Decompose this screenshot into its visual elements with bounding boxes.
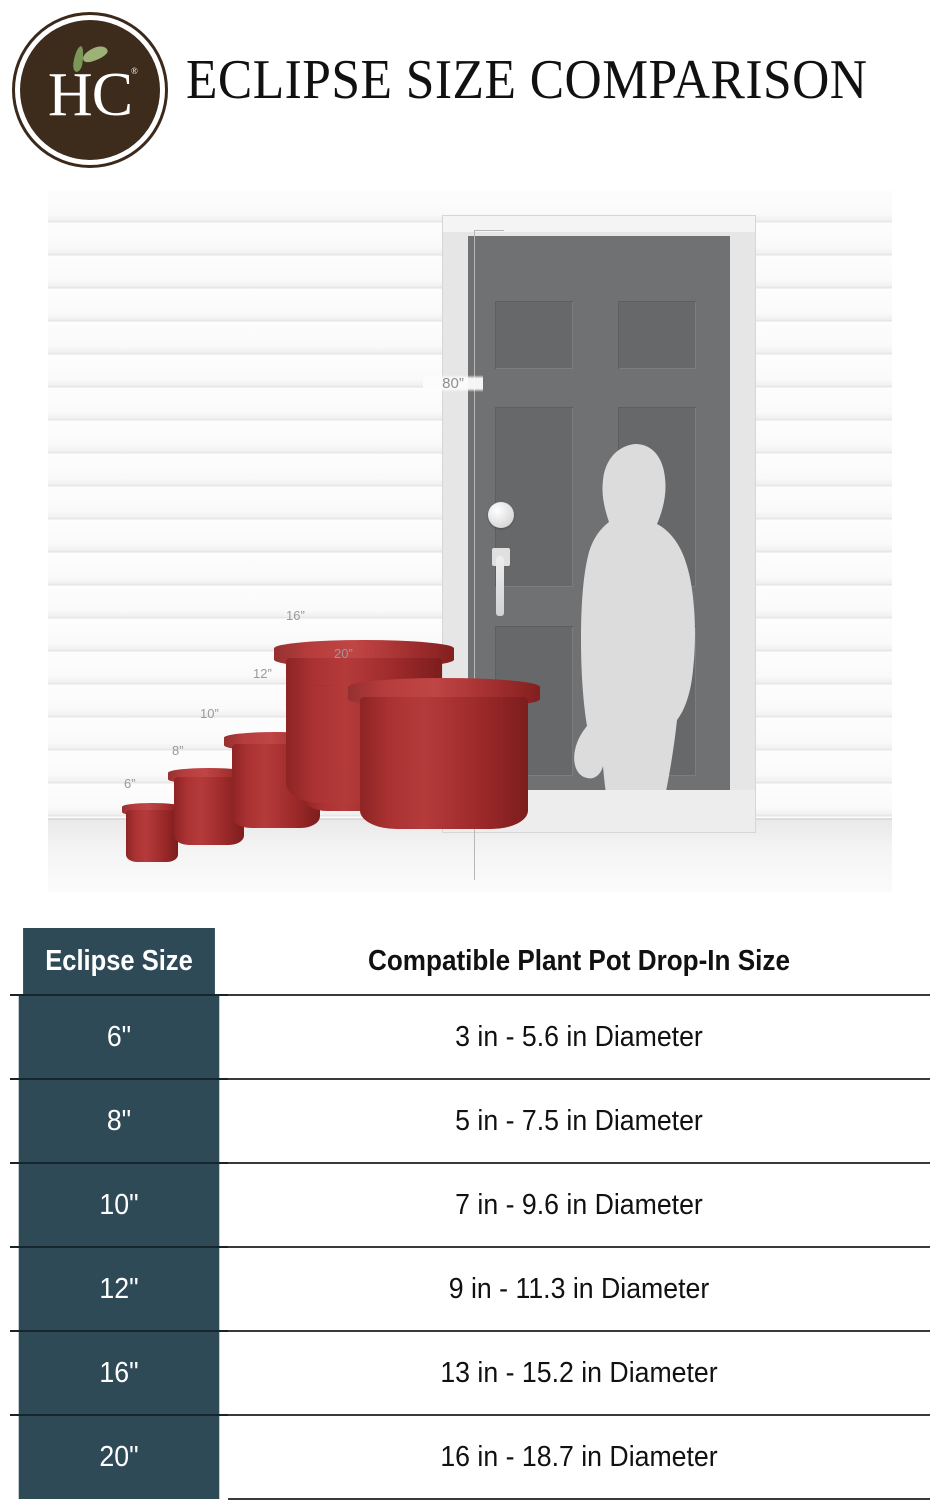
logo-monogram: HC bbox=[12, 12, 168, 168]
table-row: 12" 9 in - 11.3 in Diameter bbox=[10, 1247, 930, 1331]
table-row: 10" 7 in - 9.6 in Diameter bbox=[10, 1163, 930, 1247]
person-silhouette bbox=[573, 440, 713, 840]
cell-eclipse-size: 20" bbox=[19, 1415, 220, 1499]
door-handle-lever bbox=[496, 556, 504, 616]
size-comparison-photo: 80” 6” 8” 10” 12” 16” 20” bbox=[48, 190, 892, 892]
cell-drop-in-size: 9 in - 11.3 in Diameter bbox=[256, 1247, 902, 1331]
doorknob-icon bbox=[488, 502, 514, 528]
pot-label-6in: 6” bbox=[124, 776, 136, 791]
pot-label-16in: 16” bbox=[286, 608, 305, 623]
registered-trademark-icon: ® bbox=[131, 66, 138, 76]
table-row: 6" 3 in - 5.6 in Diameter bbox=[10, 995, 930, 1079]
eclipse-size-table: Eclipse Size Compatible Plant Pot Drop-I… bbox=[10, 928, 930, 1500]
pot-label-8in: 8” bbox=[172, 743, 184, 758]
column-header-eclipse-size: Eclipse Size bbox=[23, 928, 215, 995]
cell-drop-in-size: 16 in - 18.7 in Diameter bbox=[256, 1415, 902, 1499]
cell-drop-in-size: 7 in - 9.6 in Diameter bbox=[256, 1163, 902, 1247]
hc-logo: HC ® bbox=[12, 12, 168, 168]
cell-eclipse-size: 12" bbox=[19, 1247, 220, 1331]
page-header: HC ® ECLIPSE SIZE COMPARISON bbox=[0, 0, 940, 190]
pot-label-20in: 20” bbox=[334, 646, 353, 661]
cell-drop-in-size: 13 in - 15.2 in Diameter bbox=[256, 1331, 902, 1415]
cell-eclipse-size: 8" bbox=[19, 1079, 220, 1163]
cell-eclipse-size: 6" bbox=[19, 995, 220, 1079]
table-header-row: Eclipse Size Compatible Plant Pot Drop-I… bbox=[10, 928, 930, 995]
pot-label-10in: 10” bbox=[200, 706, 219, 721]
pot-label-12in: 12” bbox=[253, 666, 272, 681]
table-row: 8" 5 in - 7.5 in Diameter bbox=[10, 1079, 930, 1163]
cell-eclipse-size: 10" bbox=[19, 1163, 220, 1247]
table-row: 20" 16 in - 18.7 in Diameter bbox=[10, 1415, 930, 1499]
door-panel bbox=[618, 301, 696, 369]
pot-6in bbox=[126, 810, 178, 862]
pot-20in bbox=[360, 697, 528, 829]
cell-drop-in-size: 3 in - 5.6 in Diameter bbox=[256, 995, 902, 1079]
dimension-line-cap bbox=[474, 230, 504, 231]
dimension-label-80in: 80” bbox=[423, 375, 483, 392]
column-header-drop-in-size: Compatible Plant Pot Drop-In Size bbox=[263, 928, 895, 995]
door-panel bbox=[495, 301, 573, 369]
cell-drop-in-size: 5 in - 7.5 in Diameter bbox=[256, 1079, 902, 1163]
cell-eclipse-size: 16" bbox=[19, 1331, 220, 1415]
page-title: ECLIPSE SIZE COMPARISON bbox=[186, 48, 867, 112]
table-row: 16" 13 in - 15.2 in Diameter bbox=[10, 1331, 930, 1415]
